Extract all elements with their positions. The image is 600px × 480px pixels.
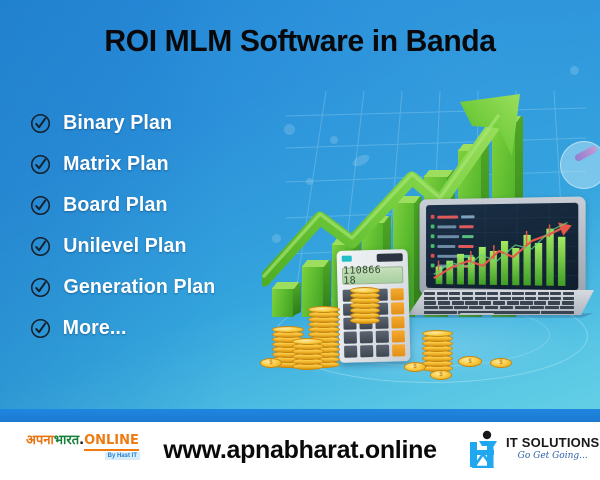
key xyxy=(475,292,486,295)
key xyxy=(520,301,532,304)
calculator-key-op[interactable] xyxy=(390,288,404,300)
coin-loose: $ xyxy=(404,362,426,372)
key-row xyxy=(424,297,574,300)
calculator-key-op[interactable] xyxy=(391,302,405,314)
key xyxy=(525,292,536,295)
it-solutions-logo[interactable]: IT SOLUTIONS Go Get Going... xyxy=(466,430,594,470)
key xyxy=(530,306,544,309)
cell xyxy=(437,215,458,218)
coin-loose: $ xyxy=(260,358,282,368)
coin-loose: $ xyxy=(490,358,512,368)
key xyxy=(454,306,468,309)
key xyxy=(475,297,486,300)
h-monogram-icon xyxy=(466,430,502,468)
calculator-key[interactable] xyxy=(360,345,374,357)
coin-stack xyxy=(292,326,324,370)
key xyxy=(452,301,464,304)
page-title: ROI MLM Software in Banda xyxy=(9,21,591,61)
calculator-key[interactable] xyxy=(375,331,389,343)
list-item: Generation Plan xyxy=(30,267,285,308)
key xyxy=(500,292,511,295)
key xyxy=(550,292,561,295)
coin-symbol: $ xyxy=(459,357,481,366)
coin-top xyxy=(308,306,340,313)
key xyxy=(424,301,436,304)
list-item-label: Board Plan xyxy=(63,194,167,217)
coin-stack xyxy=(422,306,453,372)
key xyxy=(507,301,519,304)
footer-divider xyxy=(0,409,600,422)
calculator-key[interactable] xyxy=(376,345,390,357)
coin-top xyxy=(422,330,453,337)
key xyxy=(500,306,514,309)
key xyxy=(424,292,435,295)
laptop-lid xyxy=(420,196,586,297)
feature-list: Binary Plan Matrix Plan Board Plan xyxy=(30,103,285,349)
coin-symbol: $ xyxy=(261,359,281,367)
circle-check-icon xyxy=(30,318,51,339)
coin-stack xyxy=(350,264,380,324)
key xyxy=(550,297,561,300)
list-item-label: Matrix Plan xyxy=(63,153,169,176)
growth-chart-laptop-coins-illustration: 110866 18 xyxy=(262,58,600,409)
key xyxy=(541,311,574,314)
calculator-key[interactable] xyxy=(360,331,374,343)
key xyxy=(462,297,473,300)
calculator-key-op[interactable] xyxy=(391,331,405,343)
circle-check-icon xyxy=(30,277,51,298)
coin-top xyxy=(350,287,380,294)
key xyxy=(563,297,574,300)
key xyxy=(512,297,523,300)
list-item: Binary Plan xyxy=(30,103,285,144)
circle-check-icon xyxy=(30,154,51,175)
key xyxy=(560,306,574,309)
circle-check-icon xyxy=(30,195,51,216)
key xyxy=(487,292,498,295)
key xyxy=(500,297,511,300)
key xyxy=(525,297,536,300)
key xyxy=(538,297,549,300)
list-item-label: Binary Plan xyxy=(63,112,172,135)
status-dot xyxy=(431,215,435,219)
key xyxy=(485,306,499,309)
key xyxy=(438,301,450,304)
list-item: More... xyxy=(30,308,285,349)
cell xyxy=(461,215,474,218)
calculator-key-equals[interactable] xyxy=(392,345,406,357)
coin-loose: $ xyxy=(430,370,452,380)
coin-symbol: $ xyxy=(431,371,451,379)
key xyxy=(449,292,460,295)
key xyxy=(469,306,483,309)
list-item: Unilevel Plan xyxy=(30,226,285,267)
coin-loose: $ xyxy=(458,356,482,367)
circle-check-icon xyxy=(30,113,51,134)
key xyxy=(562,301,574,304)
key xyxy=(534,301,546,304)
table-row xyxy=(431,212,485,220)
coin-symbol: $ xyxy=(491,359,511,367)
screen-chart xyxy=(428,220,578,286)
key xyxy=(538,292,549,295)
calculator-key-op[interactable] xyxy=(391,316,405,328)
coin-symbol: $ xyxy=(405,363,425,371)
coin-top xyxy=(292,338,324,345)
key xyxy=(449,297,460,300)
logo-title: IT SOLUTIONS xyxy=(506,436,599,450)
logo-text-block: IT SOLUTIONS Go Get Going... xyxy=(506,436,599,462)
poster: ROI MLM Software in Banda Binary Plan Ma… xyxy=(0,0,600,480)
key xyxy=(545,306,559,309)
key xyxy=(462,292,473,295)
key xyxy=(515,306,529,309)
calculator-key[interactable] xyxy=(344,346,358,358)
key xyxy=(548,301,560,304)
key xyxy=(493,301,505,304)
solar-panel-icon xyxy=(377,253,403,262)
key xyxy=(437,297,448,300)
calculator-key[interactable] xyxy=(344,332,358,344)
list-item-label: Generation Plan xyxy=(64,276,216,299)
laptop-screen xyxy=(426,203,578,291)
key xyxy=(563,292,574,295)
key-row xyxy=(424,292,574,295)
calculator-indicator xyxy=(342,256,352,262)
list-item-label: Unilevel Plan xyxy=(63,235,186,258)
key xyxy=(512,292,523,295)
logo-tagline: Go Get Going... xyxy=(506,451,599,462)
list-item: Board Plan xyxy=(30,185,285,226)
key xyxy=(437,292,448,295)
circle-check-icon xyxy=(30,236,51,257)
key xyxy=(424,297,435,300)
list-item-label: More... xyxy=(63,317,127,340)
key xyxy=(465,301,477,304)
key xyxy=(487,297,498,300)
key-row xyxy=(424,301,574,304)
key xyxy=(479,301,491,304)
list-item: Matrix Plan xyxy=(30,144,285,185)
